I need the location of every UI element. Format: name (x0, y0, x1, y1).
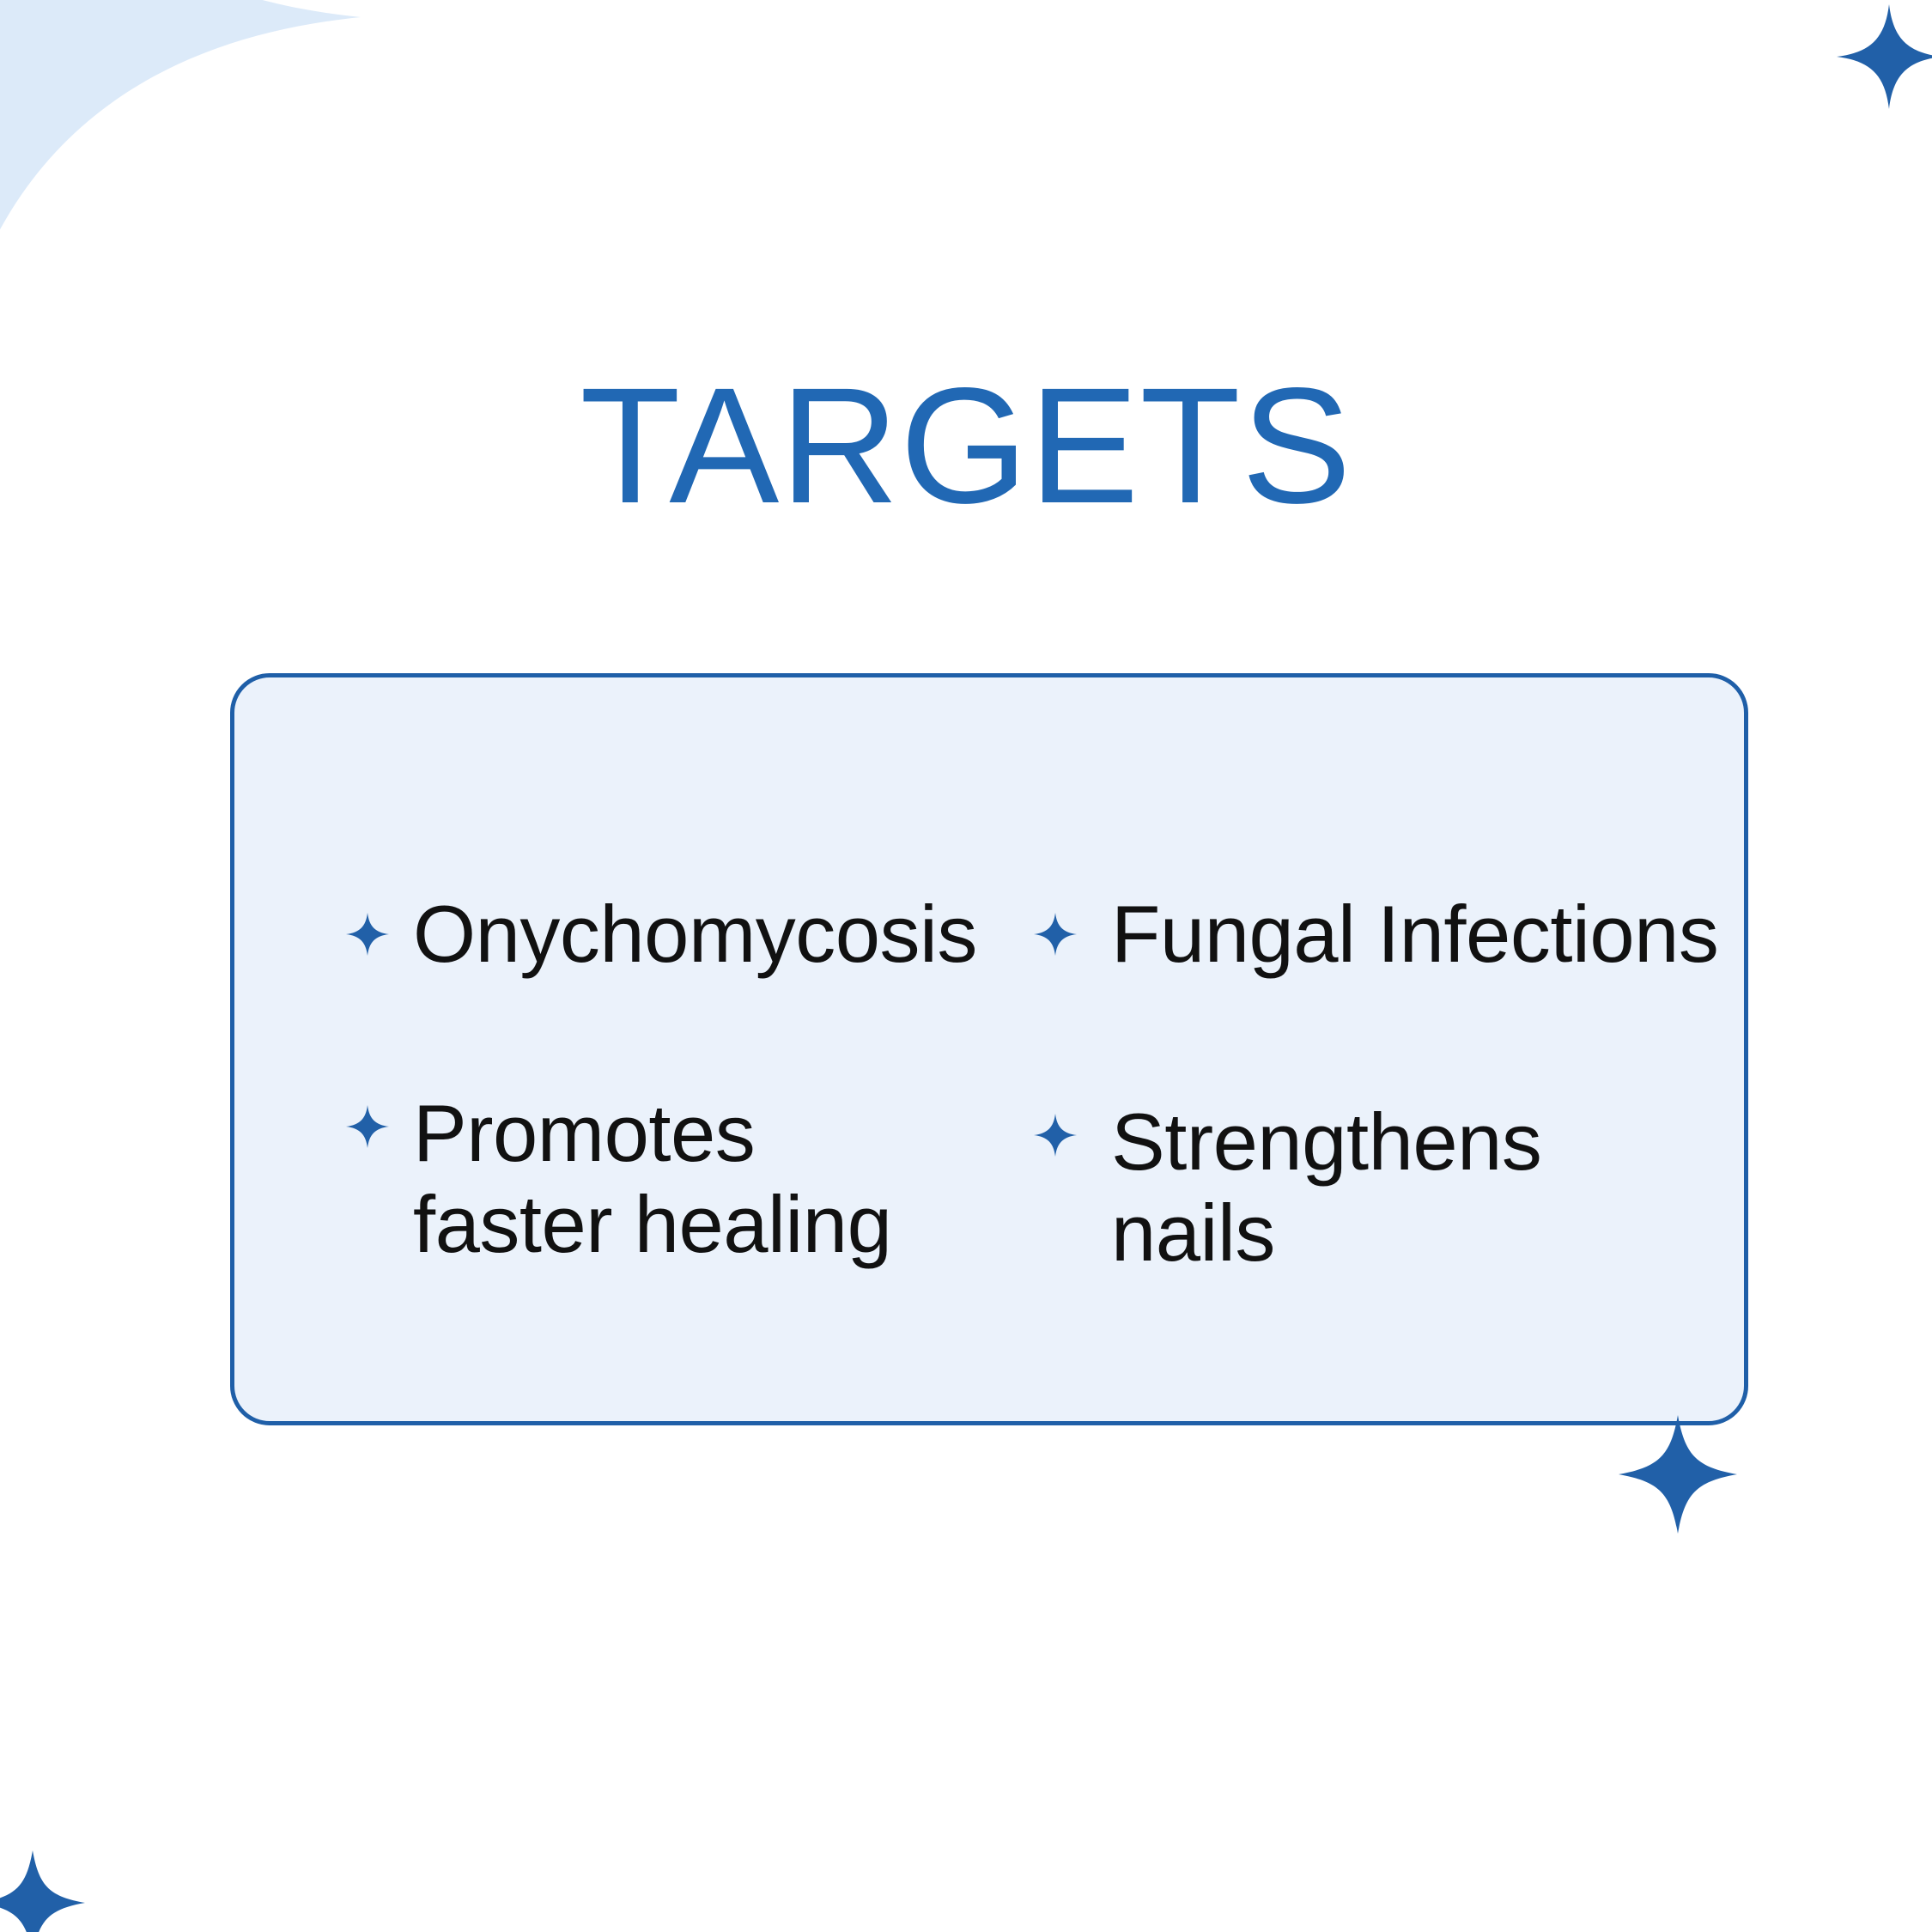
list-item-label: Fungal Infections (1111, 889, 1718, 980)
page-title: TARGETS (0, 355, 1932, 536)
sparkle-bottomright-icon (1618, 1415, 1738, 1534)
list-item[interactable]: Promotes faster healing (346, 1088, 1034, 1395)
list-item-label: Promotes faster healing (413, 1088, 963, 1270)
slide-canvas: TARGETS Onychomycosis Fungal Infections (0, 0, 1932, 1932)
sparkle-bottomleft-icon (0, 1850, 86, 1932)
four-point-star-icon (346, 913, 389, 956)
list-item-label: Onychomycosis (413, 889, 977, 980)
targets-card: Onychomycosis Fungal Infections Promotes… (230, 673, 1748, 1425)
four-point-star-icon (1034, 1114, 1077, 1157)
list-item[interactable]: Onychomycosis (346, 781, 1034, 1088)
list-item[interactable]: Fungal Infections (1034, 781, 1722, 1088)
list-item[interactable]: Strengthens nails (1034, 1088, 1722, 1395)
sparkle-topright-icon (1837, 0, 1932, 116)
list-item-label: Strengthens nails (1111, 1097, 1722, 1279)
four-point-star-icon (1034, 913, 1077, 956)
four-point-star-icon (346, 1105, 389, 1148)
targets-list: Onychomycosis Fungal Infections Promotes… (234, 677, 1744, 1421)
